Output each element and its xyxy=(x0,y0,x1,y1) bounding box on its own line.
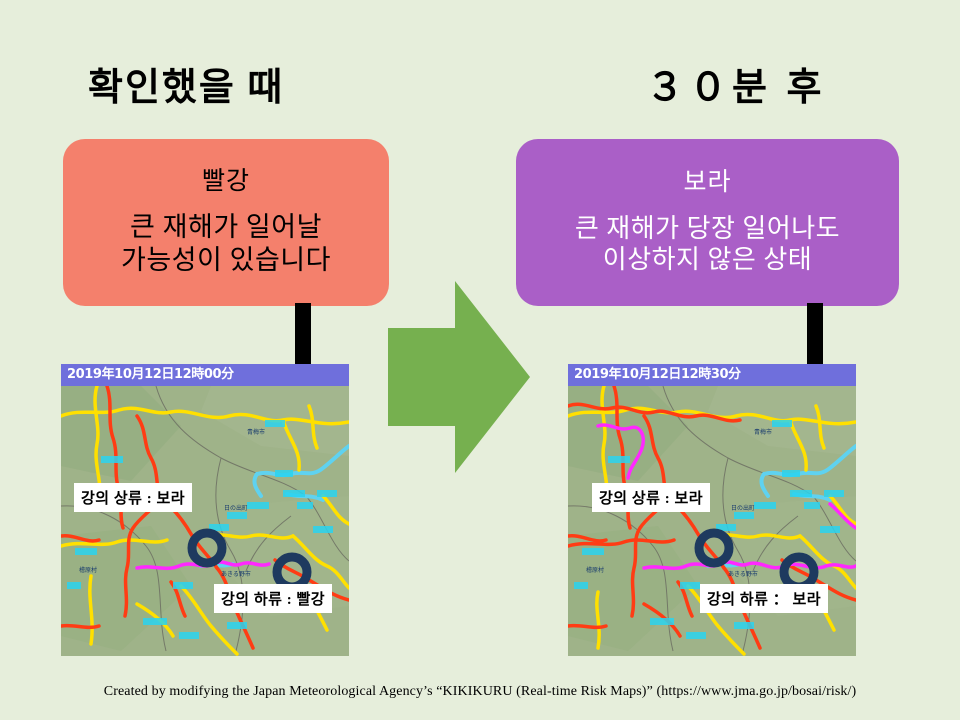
slide-canvas: 확인했을 때 ３０분 후 빨강 큰 재해가 일어날 가능성이 있습니다 보라 큰… xyxy=(0,0,960,720)
callout-purple-level: 보라 큰 재해가 당장 일어나도 이상하지 않은 상태 xyxy=(516,139,899,306)
risk-map-right-timestamp: 2019年10月12日12時30分 xyxy=(568,364,856,386)
svg-text:あきる野市: あきる野市 xyxy=(728,570,758,578)
svg-text:あきる野市: あきる野市 xyxy=(221,570,251,578)
callout-red-level: 빨강 큰 재해가 일어날 가능성이 있습니다 xyxy=(63,139,389,306)
risk-map-left-canvas: 青梅市 あきる野市 日の出町 檜原村 xyxy=(61,386,349,656)
callout-purple-level-name: 보라 xyxy=(683,169,731,197)
svg-text:青梅市: 青梅市 xyxy=(754,428,772,436)
svg-text:青梅市: 青梅市 xyxy=(247,428,265,436)
footer-credit: Created by modifying the Japan Meteorolo… xyxy=(0,684,960,700)
left-panel-title: 확인했을 때 xyxy=(88,56,284,111)
map-left-upstream-label: 강의 상류 : 보라 xyxy=(74,483,192,512)
map-right-downstream-label: 강의 하류 ： 보라 xyxy=(700,584,828,613)
svg-text:檜原村: 檜原村 xyxy=(79,566,97,574)
right-panel-title: ３０분 후 xyxy=(646,56,826,111)
risk-map-right-canvas: 青梅市 あきる野市 日の出町 檜原村 xyxy=(568,386,856,656)
callout-purple-description: 큰 재해가 당장 일어나도 이상하지 않은 상태 xyxy=(575,213,840,276)
map-left-downstream-label: 강의 하류 : 빨강 xyxy=(214,584,332,613)
svg-text:日の出町: 日の出町 xyxy=(224,504,248,512)
map-right-upstream-label: 강의 상류 : 보라 xyxy=(592,483,710,512)
svg-text:檜原村: 檜原村 xyxy=(586,566,604,574)
transition-arrow-right-icon xyxy=(388,281,530,473)
callout-red-level-name: 빨강 xyxy=(202,168,250,196)
risk-map-left-timestamp: 2019年10月12日12時00分 xyxy=(61,364,349,386)
svg-text:日の出町: 日の出町 xyxy=(731,504,755,512)
callout-red-description: 큰 재해가 일어날 가능성이 있습니다 xyxy=(121,211,331,277)
